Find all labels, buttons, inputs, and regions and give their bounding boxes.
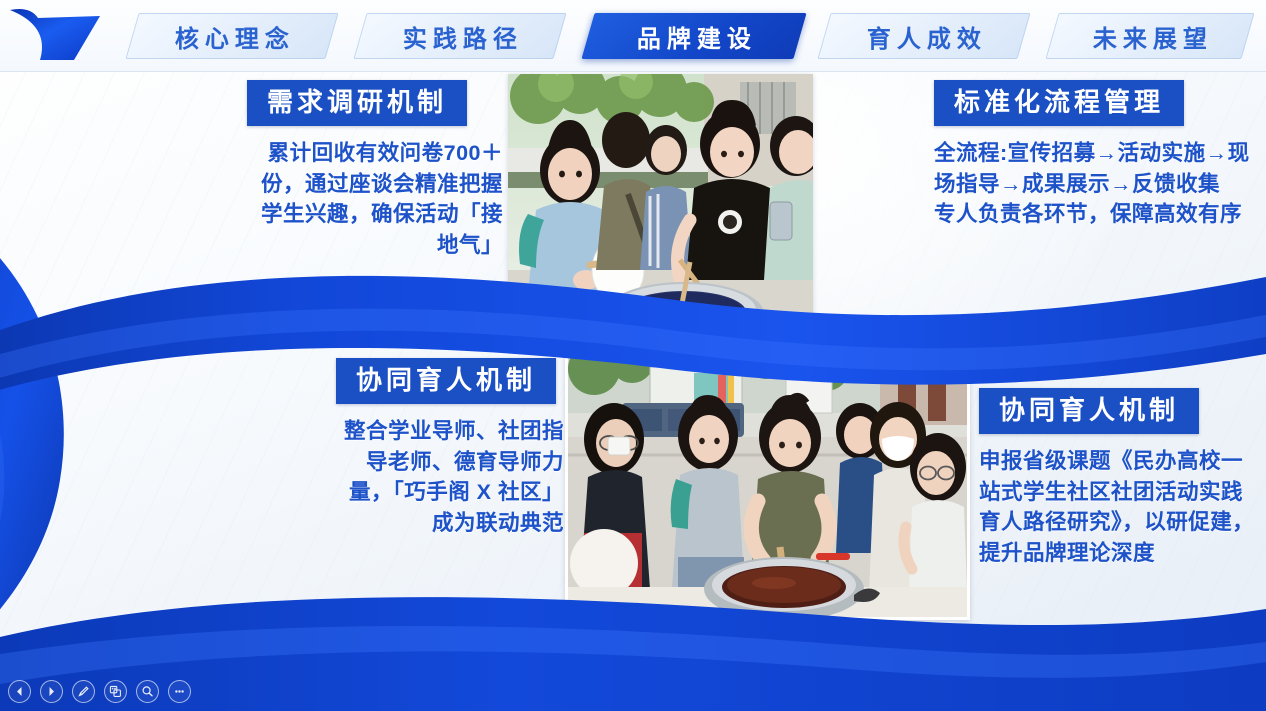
- card-title: 协同育人机制: [979, 388, 1199, 434]
- card-body: 申报省级课题《民办高校一站式学生社区社团活动实践育人路径研究》，以研促建，提升品…: [979, 446, 1264, 568]
- slides-panel-icon: [109, 685, 122, 698]
- tab-label: 育人成效: [861, 19, 987, 54]
- photo-group-activity: [565, 348, 970, 620]
- card-title: 标准化流程管理: [934, 80, 1184, 126]
- presentation-toolbar: [8, 680, 191, 703]
- magnifier-icon: [141, 685, 154, 698]
- magnifier-button[interactable]: [136, 680, 159, 703]
- more-options-icon: [173, 685, 186, 698]
- card-title: 协同育人机制: [336, 358, 556, 404]
- section-tabs: 核心理念 实践路径 品牌建设 育人成效 未来展望: [0, 0, 1266, 72]
- tab-core-concept[interactable]: 核心理念: [125, 13, 338, 59]
- tab-label: 核心理念: [169, 19, 295, 54]
- tab-label: 实践路径: [397, 19, 523, 54]
- tab-practice-path[interactable]: 实践路径: [353, 13, 566, 59]
- tab-label: 未来展望: [1087, 19, 1213, 54]
- presentation-slide: 福: [0, 0, 1266, 711]
- card-research-project: 协同育人机制 申报省级课题《民办高校一站式学生社区社团活动实践育人路径研究》，以…: [979, 388, 1264, 568]
- card-body: 全流程:宣传招募→活动实施→现场指导→成果展示→反馈收集 专人负责各环节，保障高…: [934, 138, 1264, 230]
- more-options-button[interactable]: [168, 680, 191, 703]
- tab-brand-building[interactable]: 品牌建设: [581, 13, 806, 59]
- pen-icon: [77, 685, 90, 698]
- previous-slide-button[interactable]: [8, 680, 31, 703]
- next-slide-button[interactable]: [40, 680, 63, 703]
- tab-education-results[interactable]: 育人成效: [817, 13, 1030, 59]
- card-body: 累计回收有效问卷700＋份，通过座谈会精准把握学生兴趣，确保活动「接地气」: [247, 138, 509, 260]
- tab-future-outlook[interactable]: 未来展望: [1045, 13, 1254, 59]
- card-standardized-process: 标准化流程管理 全流程:宣传招募→活动实施→现场指导→成果展示→反馈收集 专人负…: [934, 80, 1264, 230]
- next-slide-icon: [46, 686, 57, 697]
- card-demand-research: 需求调研机制 累计回收有效问卷700＋份，通过座谈会精准把握学生兴趣，确保活动「…: [247, 80, 509, 260]
- card-title: 需求调研机制: [247, 80, 467, 126]
- previous-slide-icon: [14, 686, 25, 697]
- card-body: 整合学业导师、社团指导老师、德育导师力量，「巧手阁 X 社区」成为联动典范: [336, 416, 568, 538]
- tab-label: 品牌建设: [631, 19, 757, 54]
- card-collaborative-education: 协同育人机制 整合学业导师、社团指导老师、德育导师力量，「巧手阁 X 社区」成为…: [336, 358, 568, 538]
- photo-dyeing-activity: [508, 74, 813, 336]
- pen-button[interactable]: [72, 680, 95, 703]
- slides-panel-button[interactable]: [104, 680, 127, 703]
